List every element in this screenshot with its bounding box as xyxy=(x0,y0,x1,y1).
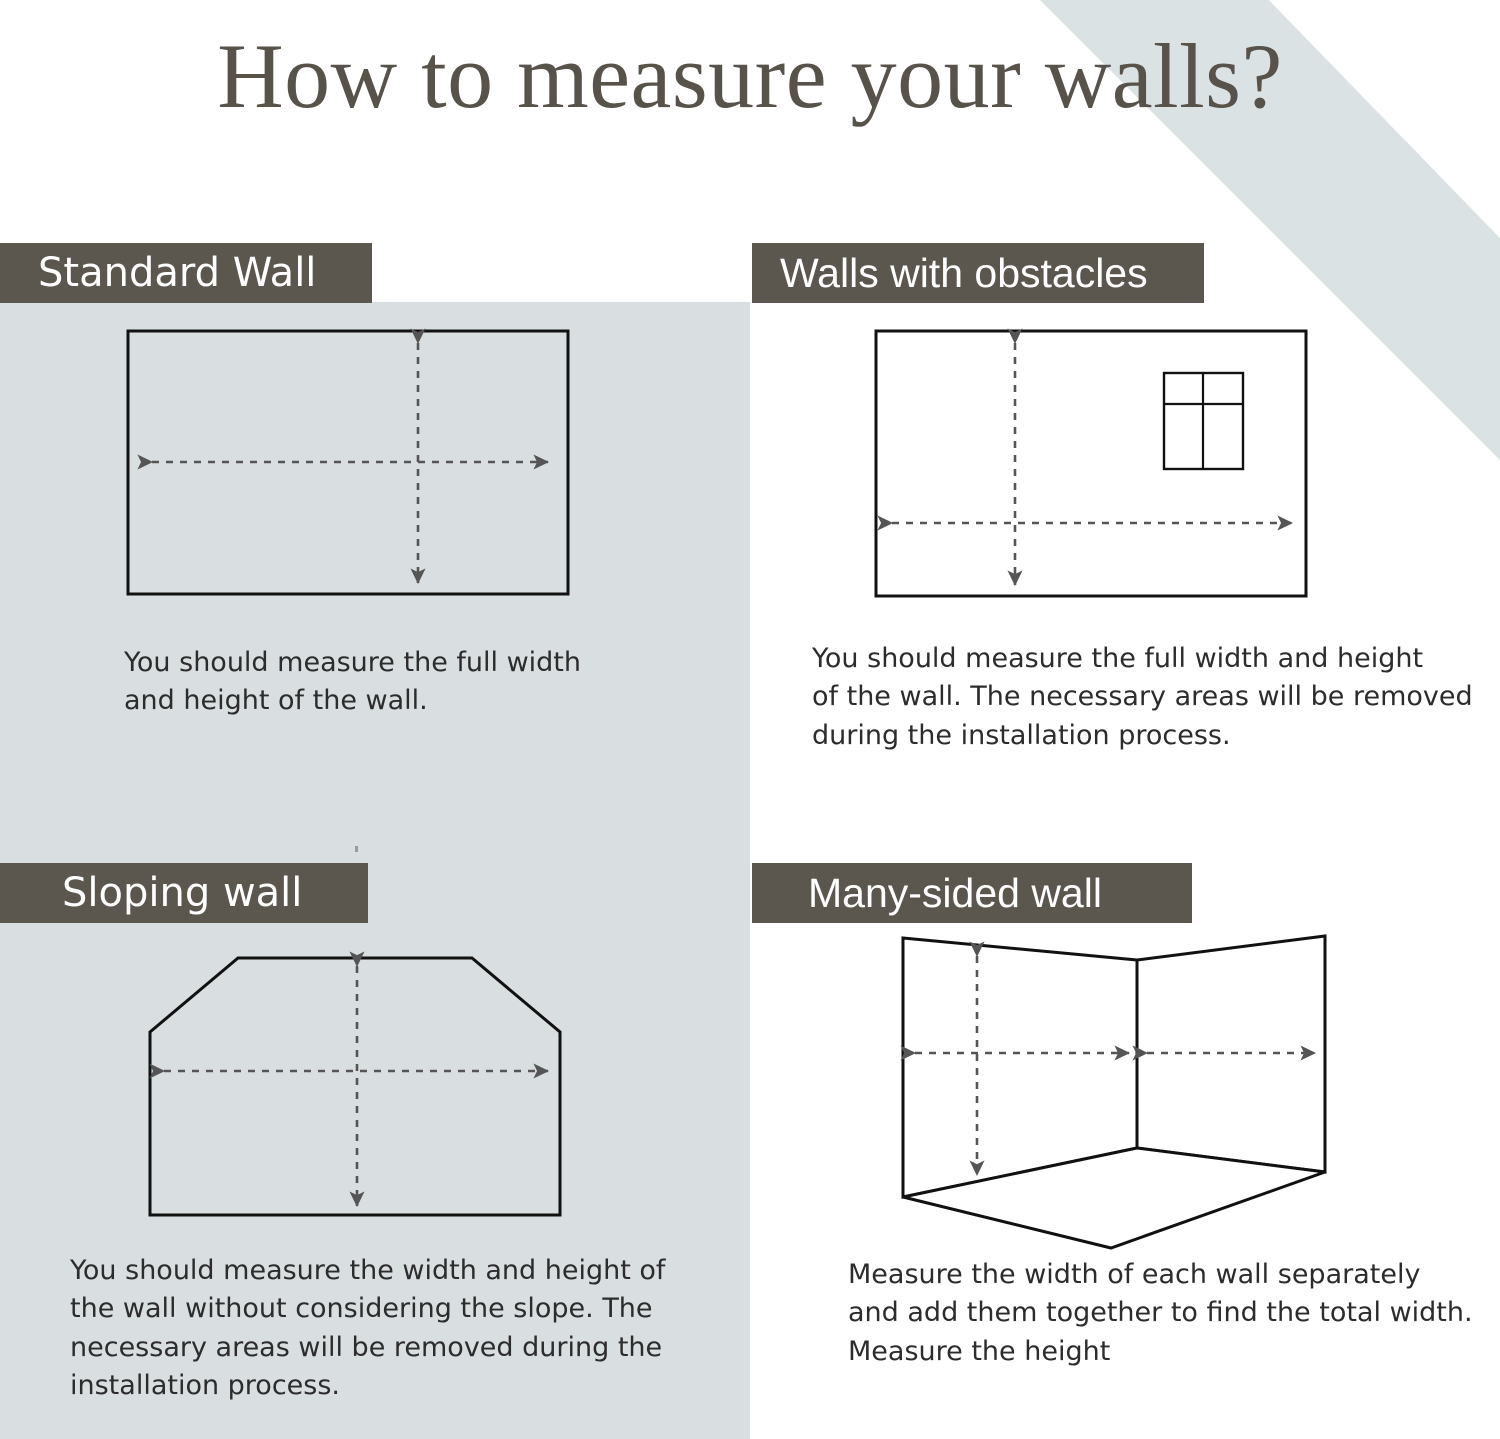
section-header-standard-wall: Standard Wall xyxy=(0,243,372,303)
description-standard-wall: You should measure the full width and he… xyxy=(124,644,644,721)
many-sided-corner-room-diagram xyxy=(875,920,1355,1260)
section-header-label: Walls with obstacles xyxy=(780,250,1148,297)
wall-with-window-diagram xyxy=(870,325,1330,610)
sloping-wall-polygon-diagram xyxy=(120,940,600,1250)
description-sloping-wall: You should measure the width and height … xyxy=(70,1252,690,1405)
page-title: How to measure your walls? xyxy=(0,28,1500,125)
section-header-label: Sloping wall xyxy=(62,870,302,916)
description-walls-with-obstacles: You should measure the full width and he… xyxy=(812,640,1492,755)
sloping-wall-outline xyxy=(150,958,560,1215)
description-many-sided-wall: Measure the width of each wall separatel… xyxy=(848,1256,1478,1371)
section-header-label: Standard Wall xyxy=(38,250,316,296)
standard-wall-rectangle-diagram xyxy=(120,325,600,610)
section-header-many-sided-wall: Many-sided wall xyxy=(752,863,1192,923)
section-header-walls-with-obstacles: Walls with obstacles xyxy=(752,243,1204,303)
infographic-canvas: How to measure your walls? Standard Wall… xyxy=(0,0,1500,1439)
artifact-speck xyxy=(355,846,358,852)
section-header-label: Many-sided wall xyxy=(808,870,1102,917)
window-obstacle-icon xyxy=(1164,373,1243,469)
section-header-sloping-wall: Sloping wall xyxy=(0,863,368,923)
